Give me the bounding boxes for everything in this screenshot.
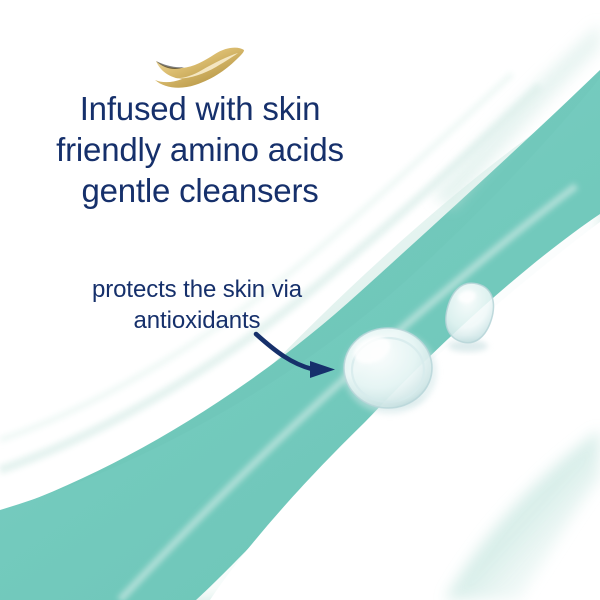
advertisement-canvas: Infused with skin friendly amino acids g… <box>0 0 600 600</box>
curved-arrow-pointing-right <box>256 334 312 369</box>
arrow-head-icon <box>310 361 335 378</box>
callout-arrow-layer <box>0 0 600 600</box>
